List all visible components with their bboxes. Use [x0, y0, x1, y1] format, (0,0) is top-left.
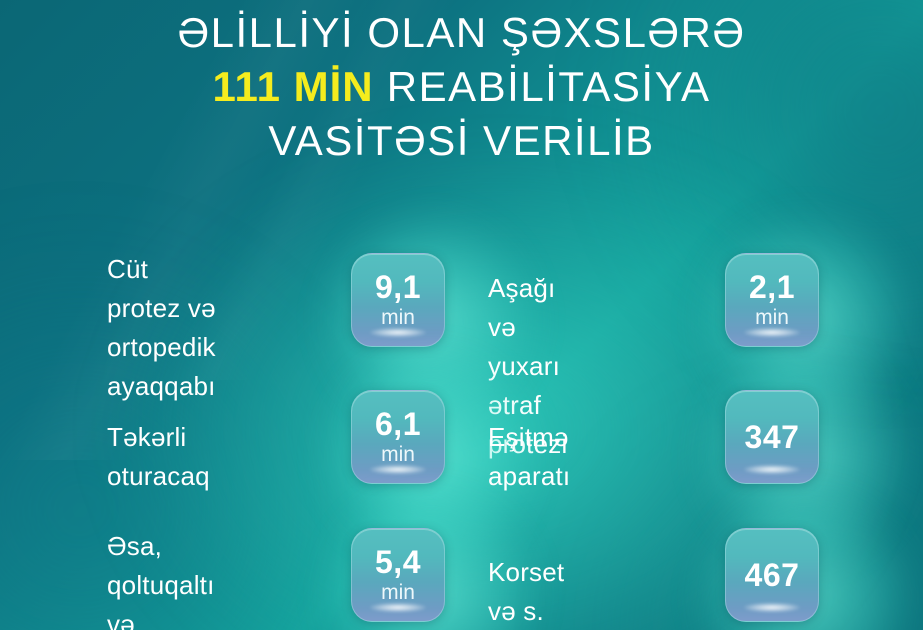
stat-value: 9,1 — [375, 270, 421, 304]
stat-unit: min — [755, 306, 789, 330]
stat-label: Eşitmə aparatı — [488, 418, 570, 496]
stat-value-card: 9,1 min — [351, 253, 445, 347]
infographic-canvas: ƏLİLLİYİ OLAN ŞƏXSLƏRƏ 111 MİN REABİLİTA… — [0, 0, 923, 630]
card-shine-highlight — [744, 603, 800, 612]
stat-value: 347 — [745, 418, 800, 456]
stat-value-card: 467 — [725, 528, 819, 622]
statistics-grid: Cüt protez və ortopedik ayaqqabı 9,1 min… — [0, 0, 923, 630]
stat-unit: min — [381, 443, 415, 467]
stat-label: Korset və s. — [488, 553, 564, 630]
stat-value-card: 2,1 min — [725, 253, 819, 347]
stat-value: 6,1 — [375, 407, 421, 441]
card-shine-highlight — [744, 465, 800, 474]
card-shine-highlight — [370, 328, 426, 337]
stat-value: 467 — [745, 556, 800, 594]
card-shine-highlight — [370, 603, 426, 612]
stat-label: Cüt protez və ortopedik ayaqqabı — [107, 250, 216, 406]
stat-value-card: 347 — [725, 390, 819, 484]
stat-label: Əsa, qoltuqaltı və dirsəkaltı ağac — [107, 527, 215, 630]
stat-label: Təkərli oturacaq — [107, 418, 210, 496]
card-shine-highlight — [370, 465, 426, 474]
card-shine-highlight — [744, 328, 800, 337]
stat-unit: min — [381, 306, 415, 330]
stat-value: 5,4 — [375, 545, 421, 579]
stat-value-card: 6,1 min — [351, 390, 445, 484]
stat-value-card: 5,4 min — [351, 528, 445, 622]
stat-unit: min — [381, 581, 415, 605]
stat-value: 2,1 — [749, 270, 795, 304]
